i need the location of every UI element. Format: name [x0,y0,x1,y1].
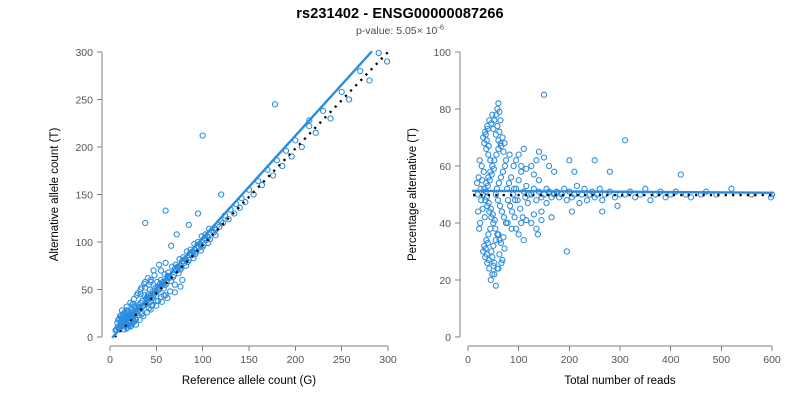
data-point [180,277,185,282]
data-point [495,124,500,129]
data-point [514,158,519,163]
data-point [313,130,318,135]
data-point [200,133,205,138]
data-point [491,166,496,171]
x-tick-label: 300 [379,354,397,366]
data-point [497,129,502,134]
data-point [539,209,544,214]
data-point [546,163,551,168]
data-point [475,192,480,197]
y-tick-label: 300 [75,47,93,59]
data-point [600,209,605,214]
y-tick-label: 40 [439,218,451,230]
panel-right: 020406080100Percentage alternative (T)01… [407,47,781,387]
data-point [541,92,546,97]
data-point [476,209,481,214]
data-point [492,272,497,277]
data-point [539,218,544,223]
data-point [541,155,546,160]
data-point [490,212,495,217]
data-point [549,215,554,220]
data-point [502,141,507,146]
x-tick-label: 100 [194,354,212,366]
data-point [479,163,484,168]
data-point [358,68,363,73]
data-point [483,132,488,137]
y-tick-label: 20 [439,275,451,287]
x-tick-label: 400 [662,354,680,366]
data-point [488,158,493,163]
data-point [536,178,541,183]
x-axis-left: 050100150200250300 [107,346,397,366]
data-point [376,50,381,55]
data-point [516,178,521,183]
panel-data-right [473,92,775,288]
y-tick-label: 150 [75,189,93,201]
data-point [482,215,487,220]
y-axis-right: 020406080100 [433,47,460,344]
data-point [569,209,574,214]
data-point [270,173,275,178]
data-point [157,262,162,267]
x-tick-label: 600 [763,354,781,366]
data-point [172,282,177,287]
data-point [534,198,539,203]
x-tick-label: 0 [465,354,471,366]
data-point [493,238,498,243]
data-point [498,175,503,180]
plot-canvas: 050100150200250300Alternative allele cou… [0,0,800,400]
data-point [648,198,653,203]
data-point [496,101,501,106]
data-point [678,172,683,177]
y-tick-label: 80 [439,104,451,116]
data-point [475,181,480,186]
data-point [525,200,530,205]
data-point [172,290,177,295]
x-tick-label: 200 [561,354,579,366]
data-point [567,158,572,163]
data-point [592,158,597,163]
data-point [328,116,333,121]
data-point [544,200,549,205]
data-point [488,206,493,211]
data-point [169,243,174,248]
data-point [145,276,150,281]
data-point [119,313,124,318]
data-point [524,218,529,223]
data-point [140,311,145,316]
data-point [534,158,539,163]
data-point [485,126,490,131]
data-point [516,152,521,157]
y-tick-label: 250 [75,94,93,106]
data-point [531,172,536,177]
data-point [496,181,501,186]
data-point [508,175,513,180]
data-point [321,108,326,113]
figure-container: rs231402 - ENSG00000087266 p-value: 5.05… [0,0,800,400]
data-point [486,152,491,157]
data-point [501,235,506,240]
data-point [505,220,510,225]
data-point [346,97,351,102]
data-point [521,146,526,151]
data-point [485,240,490,245]
y-tick-label: 0 [87,332,93,344]
data-point [497,252,502,257]
data-point [519,220,524,225]
data-point [519,163,524,168]
data-point [534,226,539,231]
y-tick-label: 200 [75,142,93,154]
data-point [479,198,484,203]
data-point [496,266,501,271]
data-point [488,226,493,231]
data-point [485,183,490,188]
data-point [484,138,489,143]
data-point [501,215,506,220]
fitted-mean-line [473,191,772,193]
data-point [505,198,510,203]
data-point [489,249,494,254]
data-point [478,220,483,225]
fitted-regression-line [113,52,372,337]
data-point [493,226,498,231]
data-point [496,232,501,237]
data-point [487,178,492,183]
x-tick-label: 200 [287,354,305,366]
data-point [507,152,512,157]
data-point [536,149,541,154]
data-point [129,323,134,328]
data-point [339,89,344,94]
y-tick-label: 60 [439,161,451,173]
y-tick-label: 100 [75,237,93,249]
data-point [489,172,494,177]
data-point [477,226,482,231]
x-tick-label: 300 [611,354,629,366]
x-axis-title: Total number of reads [564,375,675,387]
x-tick-label: 250 [333,354,351,366]
x-tick-label: 0 [107,354,113,366]
data-point [477,158,482,163]
data-point [535,232,540,237]
data-point [384,59,389,64]
x-tick-label: 150 [240,354,258,366]
y-axis-title: Percentage alternative (T) [407,128,419,261]
x-tick-label: 50 [150,354,162,366]
data-point [154,303,159,308]
data-point [607,169,612,174]
data-point [213,233,218,238]
data-point [529,220,534,225]
y-tick-label: 100 [433,47,451,59]
data-point [486,232,491,237]
data-point [151,268,156,273]
y-tick-label: 0 [445,332,451,344]
data-point [159,299,164,304]
data-point [307,124,312,129]
data-point [481,169,486,174]
x-axis-right: 0100200300400500600 [465,346,781,366]
data-point [519,169,524,174]
data-point [143,220,148,225]
data-point [174,232,179,237]
x-tick-label: 500 [713,354,731,366]
data-point [488,277,493,282]
y-axis-left: 050100150200250300 [75,47,102,344]
data-point [492,260,497,265]
data-point [572,169,577,174]
data-point [493,283,498,288]
data-point [507,203,512,208]
data-point [729,186,734,191]
data-point [518,206,523,211]
data-point [502,246,507,251]
data-point [134,293,139,298]
data-point [615,203,620,208]
data-point [516,232,521,237]
data-point [498,240,503,245]
data-point [163,260,168,265]
data-point [492,118,497,123]
panel-left: 050100150200250300Alternative allele cou… [49,47,397,387]
data-point [643,186,648,191]
data-point [502,163,507,168]
data-point [512,215,517,220]
data-point [492,218,497,223]
data-point [501,149,506,154]
data-point [584,198,589,203]
data-point [500,135,505,140]
data-point [483,246,488,251]
data-point [500,169,505,174]
data-point [178,284,183,289]
data-point [577,200,582,205]
data-point [600,198,605,203]
data-point [131,301,136,306]
data-point [163,208,168,213]
data-point [506,181,511,186]
data-point [564,249,569,254]
data-point [509,226,514,231]
data-point [195,211,200,216]
data-point [524,166,529,171]
data-point [564,198,569,203]
data-point [574,183,579,188]
data-point [521,238,526,243]
data-point [503,158,508,163]
data-point [495,198,500,203]
data-point [148,307,153,312]
panel-data-left [113,50,390,337]
data-point [165,295,170,300]
data-point [552,169,557,174]
data-point [499,260,504,265]
data-point [531,212,536,217]
data-point [219,192,224,197]
data-point [486,200,491,205]
data-point [511,163,516,168]
data-point [529,163,534,168]
data-point [186,222,191,227]
data-point [509,209,514,214]
data-point [490,255,495,260]
data-point [541,192,546,197]
data-point [491,243,496,248]
x-tick-label: 100 [510,354,528,366]
data-point [158,268,163,273]
data-point [486,143,491,148]
data-point [524,183,529,188]
y-axis-title: Alternative allele count (T) [49,128,61,262]
y-tick-label: 50 [81,284,93,296]
data-point [142,281,147,286]
data-point [497,109,502,114]
data-point [138,287,143,292]
data-point [476,175,481,180]
data-point [515,198,520,203]
data-point [497,203,502,208]
x-axis-title: Reference allele count (G) [182,375,316,387]
data-point [494,152,499,157]
data-point [280,163,285,168]
data-point [498,118,503,123]
data-point [272,102,277,107]
data-point [622,138,627,143]
data-point [367,78,372,83]
data-point [499,209,504,214]
